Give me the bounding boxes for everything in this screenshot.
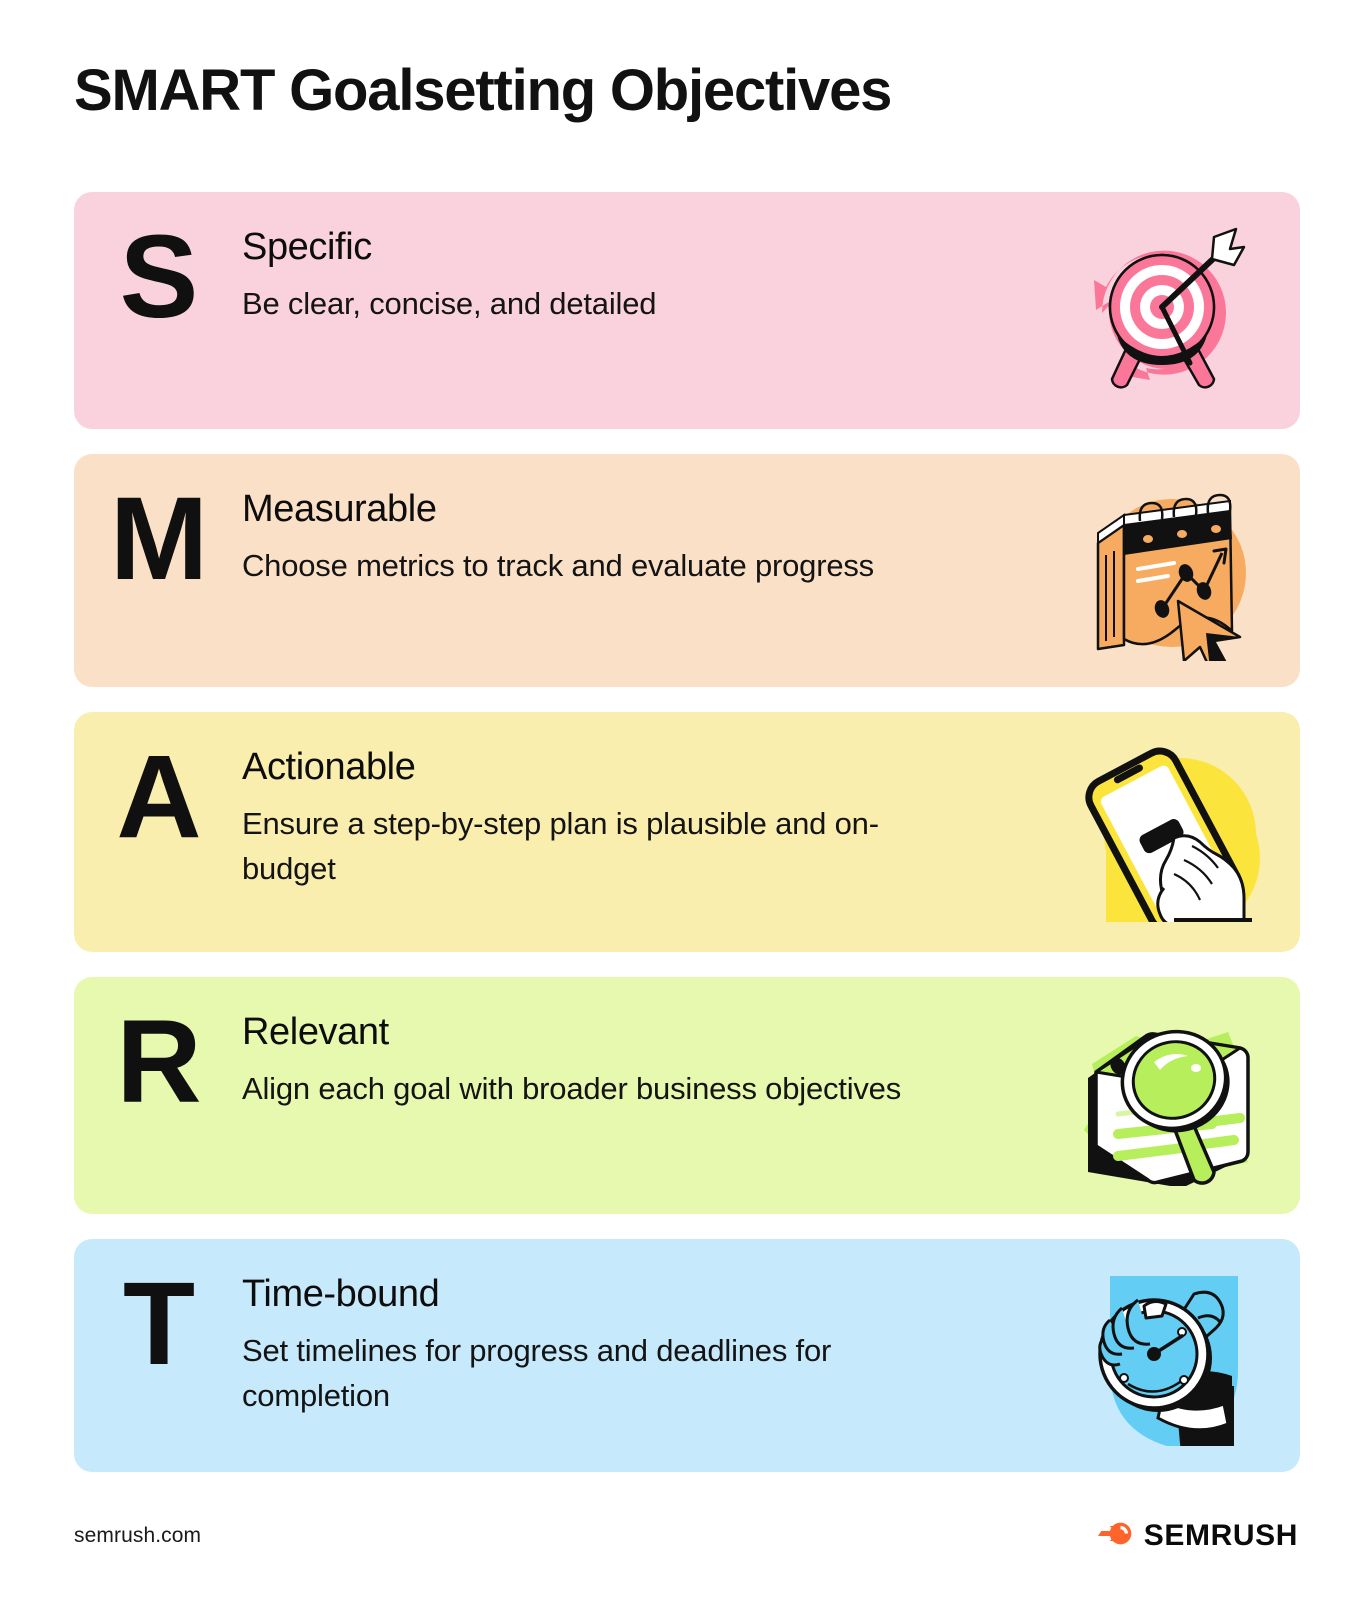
card-actionable: A Actionable Ensure a step-by-step plan … (74, 712, 1300, 952)
card-title-measurable: Measurable (242, 488, 926, 532)
card-time-bound: T Time-bound Set timelines for progress … (74, 1239, 1300, 1472)
card-title-time-bound: Time-bound (242, 1273, 926, 1317)
card-body-measurable: Measurable Choose metrics to track and e… (242, 454, 942, 589)
target-dartboard-icon (1062, 221, 1272, 401)
card-description-specific: Be clear, concise, and detailed (242, 282, 926, 327)
semrush-brand: SEMRUSH (1093, 1519, 1298, 1553)
card-letter-a: A (74, 712, 242, 856)
smart-card-list: S Specific Be clear, concise, and detail… (74, 192, 1300, 1497)
card-body-specific: Specific Be clear, concise, and detailed (242, 192, 942, 327)
card-body-relevant: Relevant Align each goal with broader bu… (242, 977, 942, 1112)
card-description-relevant: Align each goal with broader business ob… (242, 1067, 926, 1112)
page-title: SMART Goalsetting Objectives (74, 58, 891, 125)
phone-hand-tap-icon (1062, 742, 1272, 922)
card-letter-r: R (74, 977, 242, 1121)
footer-url[interactable]: semrush.com (74, 1524, 201, 1548)
card-specific: S Specific Be clear, concise, and detail… (74, 192, 1300, 429)
card-body-time-bound: Time-bound Set timelines for progress an… (242, 1239, 942, 1419)
card-letter-s: S (74, 192, 242, 336)
card-measurable: M Measurable Choose metrics to track and… (74, 454, 1300, 687)
hand-stopwatch-icon (1062, 1266, 1272, 1446)
card-title-relevant: Relevant (242, 1011, 926, 1055)
card-letter-m: M (74, 454, 242, 598)
card-description-measurable: Choose metrics to track and evaluate pro… (242, 544, 926, 589)
card-title-specific: Specific (242, 226, 926, 270)
card-body-actionable: Actionable Ensure a step-by-step plan is… (242, 712, 942, 892)
semrush-swoosh-logo-icon (1093, 1519, 1133, 1553)
semrush-wordmark: SEMRUSH (1144, 1519, 1298, 1553)
browser-magnifier-icon (1062, 1006, 1272, 1186)
card-description-actionable: Ensure a step-by-step plan is plausible … (242, 802, 926, 892)
card-relevant: R Relevant Align each goal with broader … (74, 977, 1300, 1214)
card-description-time-bound: Set timelines for progress and deadlines… (242, 1329, 926, 1419)
card-title-actionable: Actionable (242, 746, 926, 790)
infographic-page: SMART Goalsetting Objectives S Specific … (0, 0, 1372, 1600)
calendar-chart-cursor-icon (1062, 481, 1272, 661)
card-letter-t: T (74, 1239, 242, 1383)
footer: semrush.com SEMRUSH (74, 1514, 1298, 1558)
